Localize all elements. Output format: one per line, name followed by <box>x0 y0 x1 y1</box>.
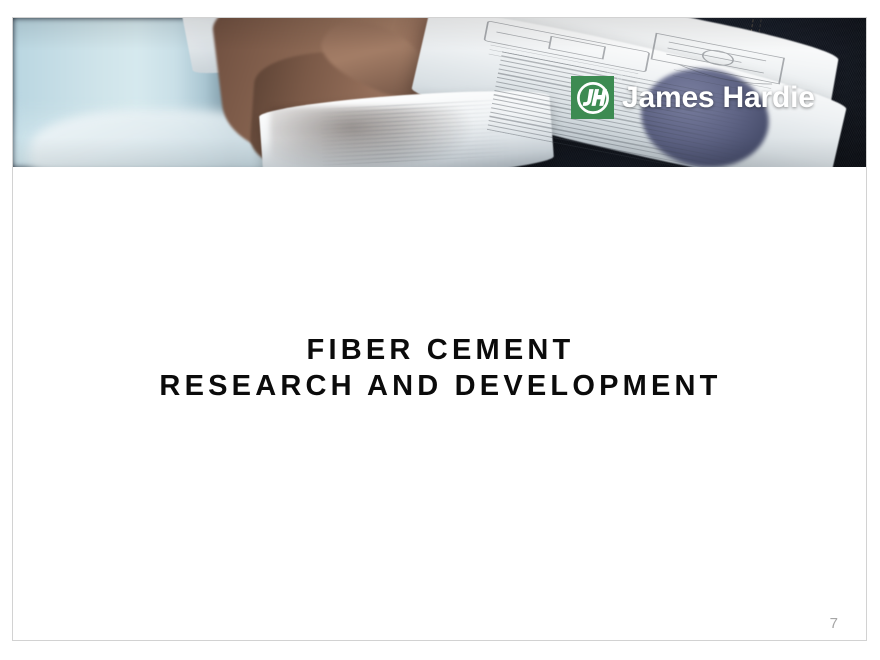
jh-monogram-icon: ® <box>571 76 614 119</box>
blueprint-printed-text <box>319 97 510 166</box>
slide-canvas: ® James Hardie FIBER CEMENT RESEARCH AND… <box>12 17 867 641</box>
slide-title-line-2: RESEARCH AND DEVELOPMENT <box>13 368 867 404</box>
jh-circle-icon <box>576 81 610 115</box>
slide-body: FIBER CEMENT RESEARCH AND DEVELOPMENT 7 <box>13 167 867 641</box>
slide-title: FIBER CEMENT RESEARCH AND DEVELOPMENT <box>13 332 867 404</box>
logo-wordmark: James Hardie <box>622 83 815 113</box>
james-hardie-logo: ® James Hardie <box>571 76 815 119</box>
page-number: 7 <box>830 616 838 631</box>
registered-trademark-icon: ® <box>617 74 623 82</box>
slide-title-line-1: FIBER CEMENT <box>13 332 867 368</box>
header-photo-banner: ® James Hardie <box>13 18 867 167</box>
